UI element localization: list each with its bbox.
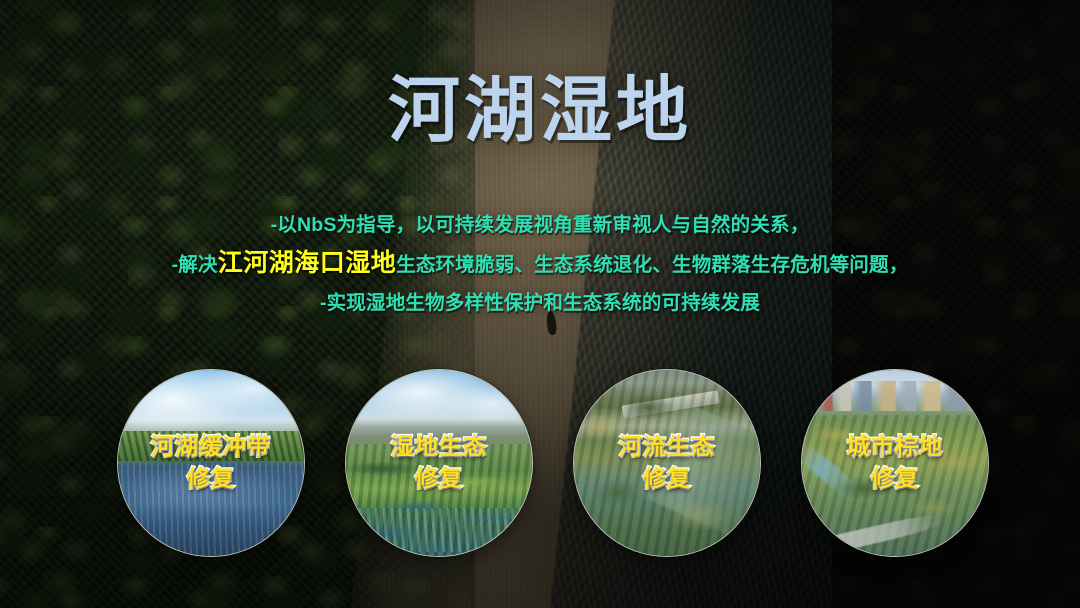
- subtitle-line-1: -以NbS为指导，以可持续发展视角重新审视人与自然的关系，: [0, 206, 1080, 244]
- subtitle-line-2-suffix: 生态环境脆弱、生态系统退化、生物群落生存危机等问题，: [396, 254, 908, 276]
- circle-badge-river-lake-buffer[interactable]: 河湖缓冲带 修复: [117, 369, 305, 557]
- circle-badge-river-ecology[interactable]: 河流生态 修复: [573, 369, 761, 557]
- wetland-water-highlight: [346, 508, 532, 553]
- subtitle-line-1-text: -以NbS为指导，以可持续发展视角重新审视人与自然的关系，: [271, 214, 810, 236]
- circle-badge-label: 湿地生态 修复: [391, 431, 487, 494]
- urban-skyline-shape: [802, 381, 988, 411]
- presentation-slide: 河湖湿地 -以NbS为指导，以可持续发展视角重新审视人与自然的关系， -解决江河…: [0, 0, 1080, 608]
- subtitle-line-2-prefix: -解决: [172, 254, 218, 276]
- circle-badge-wetland-ecology[interactable]: 湿地生态 修复: [345, 369, 533, 557]
- circle-badge-label: 城市棕地 修复: [847, 431, 943, 494]
- subtitle-line-2-highlight: 江河湖海口湿地: [218, 249, 397, 277]
- slide-title: 河湖湿地: [0, 75, 1080, 147]
- subtitle-line-3: -实现湿地生物多样性保护和生态系统的可持续发展: [0, 284, 1080, 322]
- circle-badge-label: 河湖缓冲带 修复: [151, 431, 271, 494]
- circle-badge-row: 河湖缓冲带 修复 湿地生态 修复 河流生态 修复 城: [0, 369, 1080, 569]
- subtitle-line-3-text: -实现湿地生物多样性保护和生态系统的可持续发展: [320, 292, 760, 314]
- slide-subtitle-block: -以NbS为指导，以可持续发展视角重新审视人与自然的关系， -解决江河湖海口湿地…: [0, 206, 1080, 322]
- circle-badge-label: 河流生态 修复: [619, 431, 715, 494]
- circle-badge-urban-brownfield[interactable]: 城市棕地 修复: [801, 369, 989, 557]
- subtitle-line-2: -解决江河湖海口湿地生态环境脆弱、生态系统退化、生物群落生存危机等问题，: [0, 244, 1080, 284]
